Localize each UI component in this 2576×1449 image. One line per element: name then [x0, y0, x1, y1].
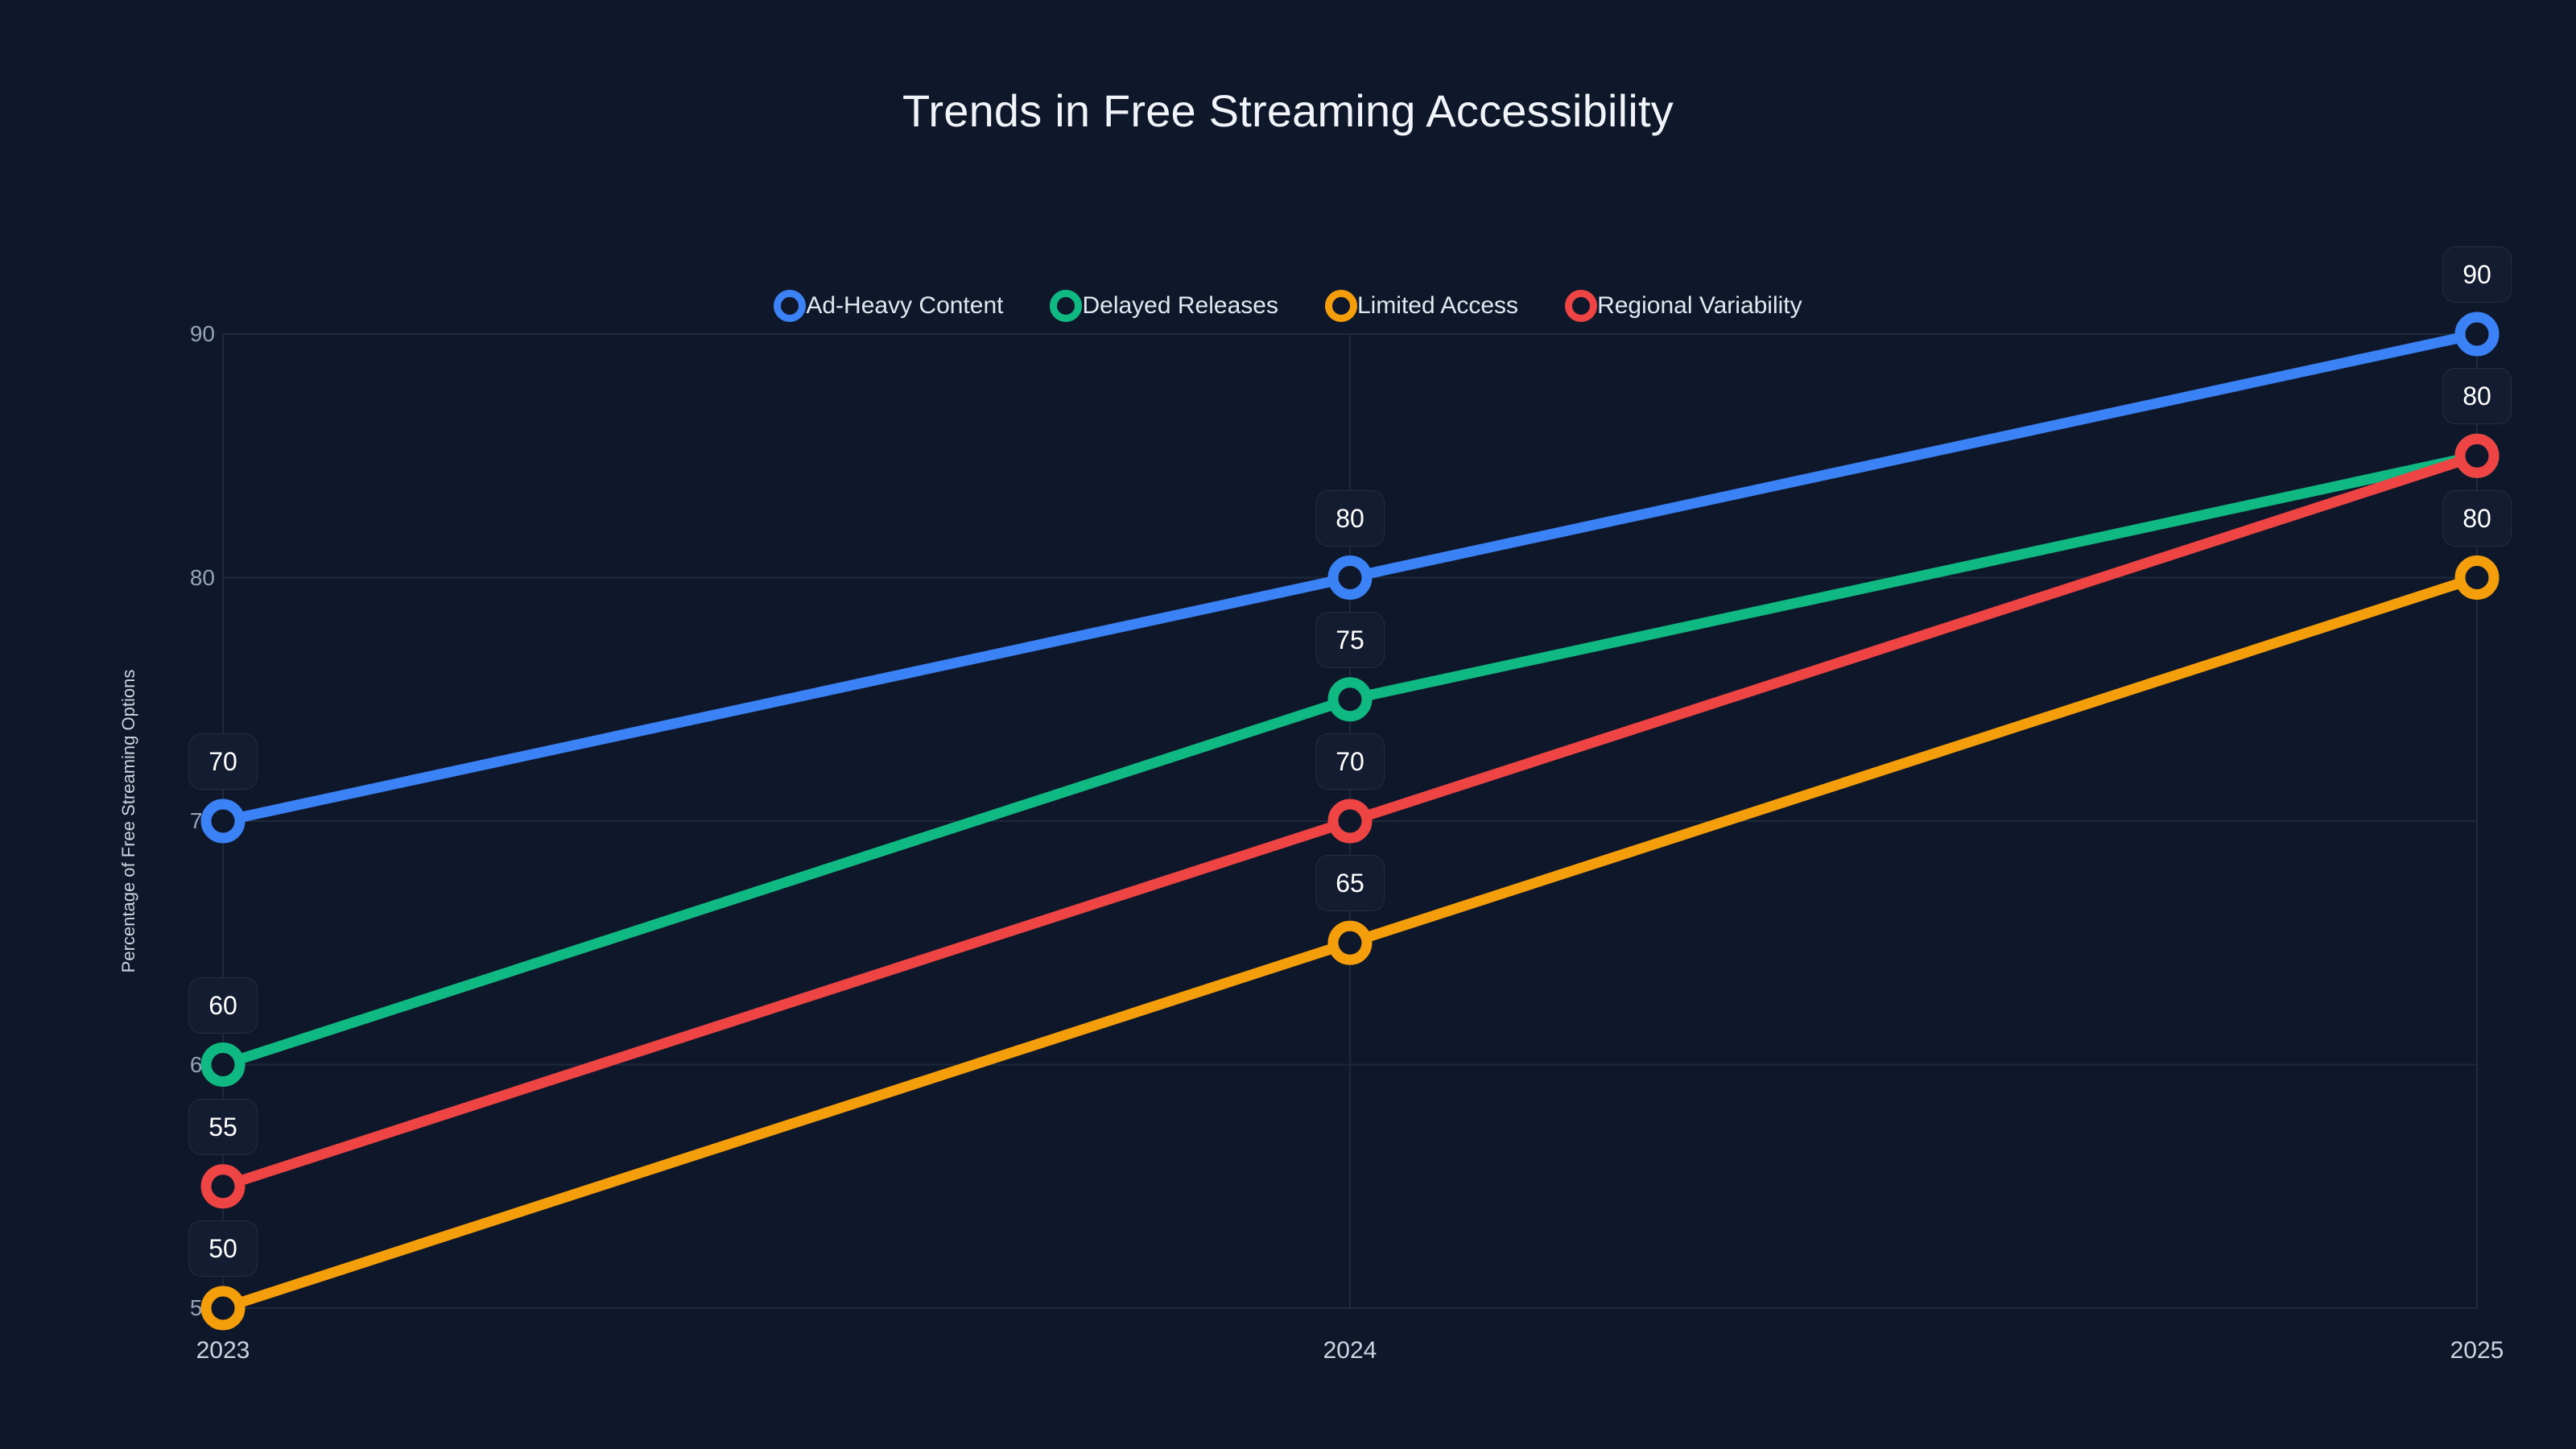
- data-point-marker[interactable]: [1333, 926, 1367, 960]
- data-point-marker[interactable]: [2460, 439, 2494, 473]
- data-label: 75: [1315, 612, 1385, 668]
- data-point-marker[interactable]: [1333, 804, 1367, 838]
- legend-item-ad-heavy-content[interactable]: Ad-Heavy Content: [774, 290, 1003, 322]
- circle-outline-icon: [774, 290, 806, 322]
- legend-item-limited-access[interactable]: Limited Access: [1325, 290, 1518, 322]
- y-axis-tick-60: 60: [118, 1054, 215, 1076]
- legend-item-delayed-releases[interactable]: Delayed Releases: [1050, 290, 1278, 322]
- legend-label: Regional Variability: [1597, 294, 1802, 318]
- data-label: 80: [2442, 490, 2512, 547]
- legend-label: Delayed Releases: [1082, 294, 1278, 318]
- legend-item-regional-variability[interactable]: Regional Variability: [1565, 290, 1802, 322]
- data-label: 90: [2442, 246, 2512, 303]
- y-axis-tick-70: 70: [118, 810, 215, 832]
- data-point-marker[interactable]: [2460, 561, 2494, 595]
- data-label: 80: [2442, 368, 2512, 424]
- data-point-marker[interactable]: [2460, 317, 2494, 351]
- plot-area: [223, 334, 2477, 1308]
- data-label: 55: [188, 1099, 258, 1155]
- chart-canvas: Trends in Free Streaming Accessibility A…: [0, 0, 2576, 1449]
- data-label: 70: [188, 733, 258, 790]
- circle-outline-icon: [1565, 290, 1597, 322]
- data-label: 65: [1315, 855, 1385, 911]
- data-label: 70: [1315, 733, 1385, 790]
- y-axis-tick-50: 50: [118, 1297, 215, 1319]
- x-axis-tick-2024: 2024: [1269, 1339, 1430, 1363]
- data-label: 80: [1315, 490, 1385, 547]
- circle-outline-icon: [1325, 290, 1357, 322]
- legend-label: Ad-Heavy Content: [806, 294, 1003, 318]
- data-point-marker[interactable]: [206, 1170, 240, 1203]
- data-point-marker[interactable]: [1333, 561, 1367, 595]
- data-label: 60: [188, 977, 258, 1034]
- data-point-marker[interactable]: [1333, 683, 1367, 716]
- data-label: 50: [188, 1220, 258, 1277]
- chart-title: Trends in Free Streaming Accessibility: [0, 89, 2576, 134]
- data-point-marker[interactable]: [206, 1048, 240, 1082]
- data-point-marker[interactable]: [206, 804, 240, 838]
- y-axis-tick-90: 90: [118, 323, 215, 345]
- y-axis-tick-80: 80: [118, 567, 215, 589]
- x-axis-tick-2025: 2025: [2396, 1339, 2557, 1363]
- legend-label: Limited Access: [1357, 294, 1518, 318]
- data-point-marker[interactable]: [206, 1291, 240, 1325]
- x-axis-tick-2023: 2023: [142, 1339, 303, 1363]
- plot-svg: [223, 334, 2477, 1308]
- circle-outline-icon: [1050, 290, 1082, 322]
- chart-legend: Ad-Heavy ContentDelayed ReleasesLimited …: [0, 290, 2576, 322]
